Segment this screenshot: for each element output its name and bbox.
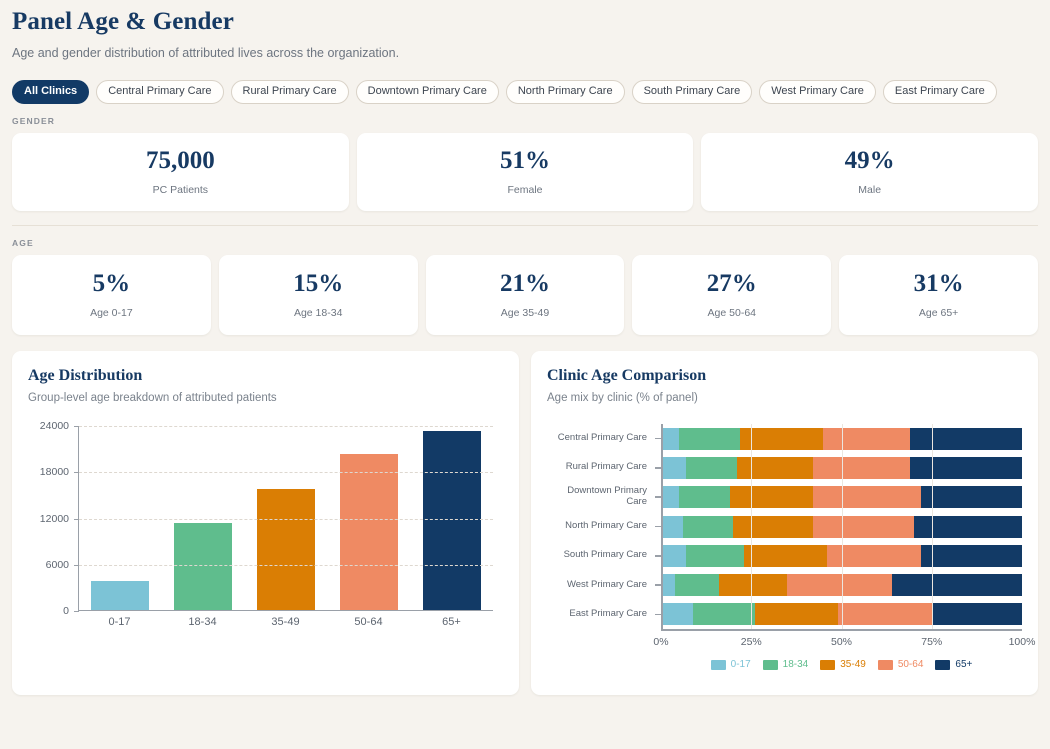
y-tick-label: 0 xyxy=(63,605,69,617)
page-title: Panel Age & Gender xyxy=(12,8,1038,36)
bar-segment[interactable] xyxy=(755,603,838,625)
bar-segment[interactable] xyxy=(910,457,1022,479)
gridline xyxy=(79,565,493,566)
gridline xyxy=(79,472,493,473)
legend-label: 50-64 xyxy=(898,659,924,670)
bar-segment[interactable] xyxy=(813,516,914,538)
axis-tick xyxy=(74,472,79,473)
clinic-label: East Primary Care xyxy=(547,609,655,620)
bar-segment[interactable] xyxy=(719,574,788,596)
bar-segment[interactable] xyxy=(679,486,730,508)
kpi-label: Age 18-34 xyxy=(294,307,342,319)
bar-segment[interactable] xyxy=(813,486,921,508)
bar-segment[interactable] xyxy=(675,574,718,596)
clinic-chip[interactable]: West Primary Care xyxy=(759,80,876,104)
gridline xyxy=(751,424,752,629)
bar-segment[interactable] xyxy=(892,574,1022,596)
gender-kpi-row: 75,000PC Patients51%Female49%Male xyxy=(0,126,1050,211)
kpi-label: Age 0-17 xyxy=(90,307,133,319)
bar-segment[interactable] xyxy=(787,574,892,596)
kpi-value: 15% xyxy=(293,271,343,296)
bar-segment[interactable] xyxy=(838,603,932,625)
y-tick-label: 12000 xyxy=(40,513,69,525)
clinic-chip[interactable]: All Clinics xyxy=(12,80,89,104)
gridline xyxy=(79,519,493,520)
kpi-label: Male xyxy=(858,184,881,196)
clinic-chip[interactable]: North Primary Care xyxy=(506,80,625,104)
bar-segment[interactable] xyxy=(679,428,740,450)
clinic-chip[interactable]: Downtown Primary Care xyxy=(356,80,499,104)
kpi-card: 21%Age 35-49 xyxy=(426,255,625,335)
kpi-label: Age 50-64 xyxy=(708,307,756,319)
bar-segment[interactable] xyxy=(686,545,744,567)
bar-segment[interactable] xyxy=(661,516,683,538)
kpi-value: 31% xyxy=(914,271,964,296)
x-axis-labels: 0-1718-3435-4950-6465+ xyxy=(78,616,493,628)
gridline xyxy=(79,426,493,427)
axis-tick xyxy=(74,519,79,520)
legend-swatch xyxy=(711,660,726,670)
legend-item[interactable]: 35-49 xyxy=(820,659,866,670)
legend-swatch xyxy=(935,660,950,670)
clinic-chip[interactable]: South Primary Care xyxy=(632,80,753,104)
kpi-label: PC Patients xyxy=(153,184,208,196)
bar-segment[interactable] xyxy=(921,545,1022,567)
clinic-bar-row: Rural Primary Care xyxy=(547,453,1022,482)
legend-label: 18-34 xyxy=(783,659,809,670)
kpi-label: Age 35-49 xyxy=(501,307,549,319)
x-tick-label: 50% xyxy=(831,636,852,648)
kpi-value: 21% xyxy=(500,271,550,296)
legend-swatch xyxy=(820,660,835,670)
bar-segment[interactable] xyxy=(737,457,813,479)
bar-segment[interactable] xyxy=(661,574,675,596)
gridline xyxy=(932,424,933,629)
clinic-bar-row: East Primary Care xyxy=(547,600,1022,629)
clinic-filter-chips: All ClinicsCentral Primary CareRural Pri… xyxy=(0,60,1050,104)
age-section-label: AGE xyxy=(0,226,1050,248)
x-tick-label: 65+ xyxy=(423,616,481,628)
age-distribution-panel: Age Distribution Group-level age breakdo… xyxy=(12,351,519,695)
bar-segment[interactable] xyxy=(693,603,754,625)
kpi-value: 75,000 xyxy=(146,148,215,173)
axis-tick xyxy=(74,565,79,566)
kpi-card: 5%Age 0-17 xyxy=(12,255,211,335)
clinic-comparison-title: Clinic Age Comparison xyxy=(547,367,1022,385)
x-tick-label: 35-49 xyxy=(257,616,315,628)
clinic-label: South Primary Care xyxy=(547,550,655,561)
bar-segment[interactable] xyxy=(813,457,910,479)
legend-item[interactable]: 0-17 xyxy=(711,659,751,670)
y-tick-label: 6000 xyxy=(46,559,69,571)
age-distribution-chart: 06000120001800024000 0-1718-3435-4950-64… xyxy=(28,426,503,636)
clinic-chip[interactable]: East Primary Care xyxy=(883,80,997,104)
x-axis-line xyxy=(661,629,1022,631)
kpi-card: 75,000PC Patients xyxy=(12,133,349,211)
legend-swatch xyxy=(763,660,778,670)
bar-segment[interactable] xyxy=(914,516,1022,538)
clinic-comparison-subtitle: Age mix by clinic (% of panel) xyxy=(547,392,1022,404)
bar-segment[interactable] xyxy=(932,603,1022,625)
stacked-bar-rows: Central Primary CareRural Primary CareDo… xyxy=(547,424,1022,629)
kpi-value: 27% xyxy=(707,271,757,296)
bar[interactable] xyxy=(423,431,481,610)
kpi-card: 31%Age 65+ xyxy=(839,255,1038,335)
bar-plot-area xyxy=(78,426,493,611)
clinic-label: North Primary Care xyxy=(547,521,655,532)
clinic-label: Downtown Primary Care xyxy=(547,486,655,508)
clinic-bar-row: Downtown Primary Care xyxy=(547,483,1022,512)
legend-label: 65+ xyxy=(955,659,972,670)
x-tick-label: 100% xyxy=(1009,636,1036,648)
x-tick-label: 0-17 xyxy=(91,616,149,628)
x-tick-label: 75% xyxy=(921,636,942,648)
kpi-card: 51%Female xyxy=(357,133,694,211)
kpi-label: Female xyxy=(508,184,543,196)
clinic-comparison-panel: Clinic Age Comparison Age mix by clinic … xyxy=(531,351,1038,695)
legend-swatch xyxy=(878,660,893,670)
bar-segment[interactable] xyxy=(686,457,737,479)
page-subtitle: Age and gender distribution of attribute… xyxy=(12,46,1038,60)
bar-segment[interactable] xyxy=(733,516,812,538)
chart-legend: 0-1718-3435-4950-6465+ xyxy=(661,659,1022,670)
kpi-card: 27%Age 50-64 xyxy=(632,255,831,335)
bar[interactable] xyxy=(257,489,315,610)
clinic-label: Rural Primary Care xyxy=(547,462,655,473)
clinic-bar-row: West Primary Care xyxy=(547,570,1022,599)
kpi-value: 5% xyxy=(93,271,131,296)
clinic-comparison-chart: Central Primary CareRural Primary CareDo… xyxy=(547,424,1022,674)
dashboard-page: Panel Age & Gender Age and gender distri… xyxy=(0,0,1050,749)
clinic-label: West Primary Care xyxy=(547,580,655,591)
axis-tick xyxy=(74,611,79,612)
bar-segment[interactable] xyxy=(730,486,813,508)
gender-section-label: GENDER xyxy=(0,104,1050,126)
bar-segment[interactable] xyxy=(661,486,679,508)
bar-segment[interactable] xyxy=(740,428,823,450)
bar[interactable] xyxy=(91,581,149,610)
kpi-value: 49% xyxy=(845,148,895,173)
kpi-card: 15%Age 18-34 xyxy=(219,255,418,335)
kpi-value: 51% xyxy=(500,148,550,173)
axis-tick xyxy=(74,426,79,427)
charts-row: Age Distribution Group-level age breakdo… xyxy=(0,335,1050,695)
gridline xyxy=(842,424,843,629)
legend-label: 35-49 xyxy=(840,659,866,670)
bar-segment[interactable] xyxy=(910,428,1022,450)
age-kpi-row: 5%Age 0-1715%Age 18-3421%Age 35-4927%Age… xyxy=(0,248,1050,335)
y-axis-line xyxy=(661,424,663,629)
legend-item[interactable]: 50-64 xyxy=(878,659,924,670)
x-tick-label: 18-34 xyxy=(174,616,232,628)
clinic-bar-row: Central Primary Care xyxy=(547,424,1022,453)
bar[interactable] xyxy=(174,523,232,610)
clinic-bar-row: North Primary Care xyxy=(547,512,1022,541)
bar-segment[interactable] xyxy=(683,516,734,538)
bar-segment[interactable] xyxy=(661,428,679,450)
y-tick-label: 18000 xyxy=(40,466,69,478)
clinic-label: Central Primary Care xyxy=(547,433,655,444)
age-distribution-subtitle: Group-level age breakdown of attributed … xyxy=(28,392,503,404)
legend-item[interactable]: 65+ xyxy=(935,659,972,670)
y-axis-labels: 06000120001800024000 xyxy=(28,426,74,611)
bar-segment[interactable] xyxy=(661,457,686,479)
bar-segment[interactable] xyxy=(744,545,827,567)
age-distribution-title: Age Distribution xyxy=(28,367,503,385)
x-tick-label: 25% xyxy=(741,636,762,648)
kpi-card: 49%Male xyxy=(701,133,1038,211)
x-tick-label: 50-64 xyxy=(340,616,398,628)
y-tick-label: 24000 xyxy=(40,420,69,432)
legend-label: 0-17 xyxy=(731,659,751,670)
bar-segment[interactable] xyxy=(921,486,1022,508)
bar[interactable] xyxy=(340,454,398,610)
x-tick-label: 0% xyxy=(653,636,668,648)
bar-segment[interactable] xyxy=(823,428,910,450)
legend-item[interactable]: 18-34 xyxy=(763,659,809,670)
kpi-label: Age 65+ xyxy=(919,307,958,319)
bar-segment[interactable] xyxy=(661,603,693,625)
page-header: Panel Age & Gender Age and gender distri… xyxy=(0,0,1050,60)
clinic-chip[interactable]: Central Primary Care xyxy=(96,80,223,104)
clinic-bar-row: South Primary Care xyxy=(547,541,1022,570)
bar-segment[interactable] xyxy=(661,545,686,567)
clinic-chip[interactable]: Rural Primary Care xyxy=(231,80,349,104)
